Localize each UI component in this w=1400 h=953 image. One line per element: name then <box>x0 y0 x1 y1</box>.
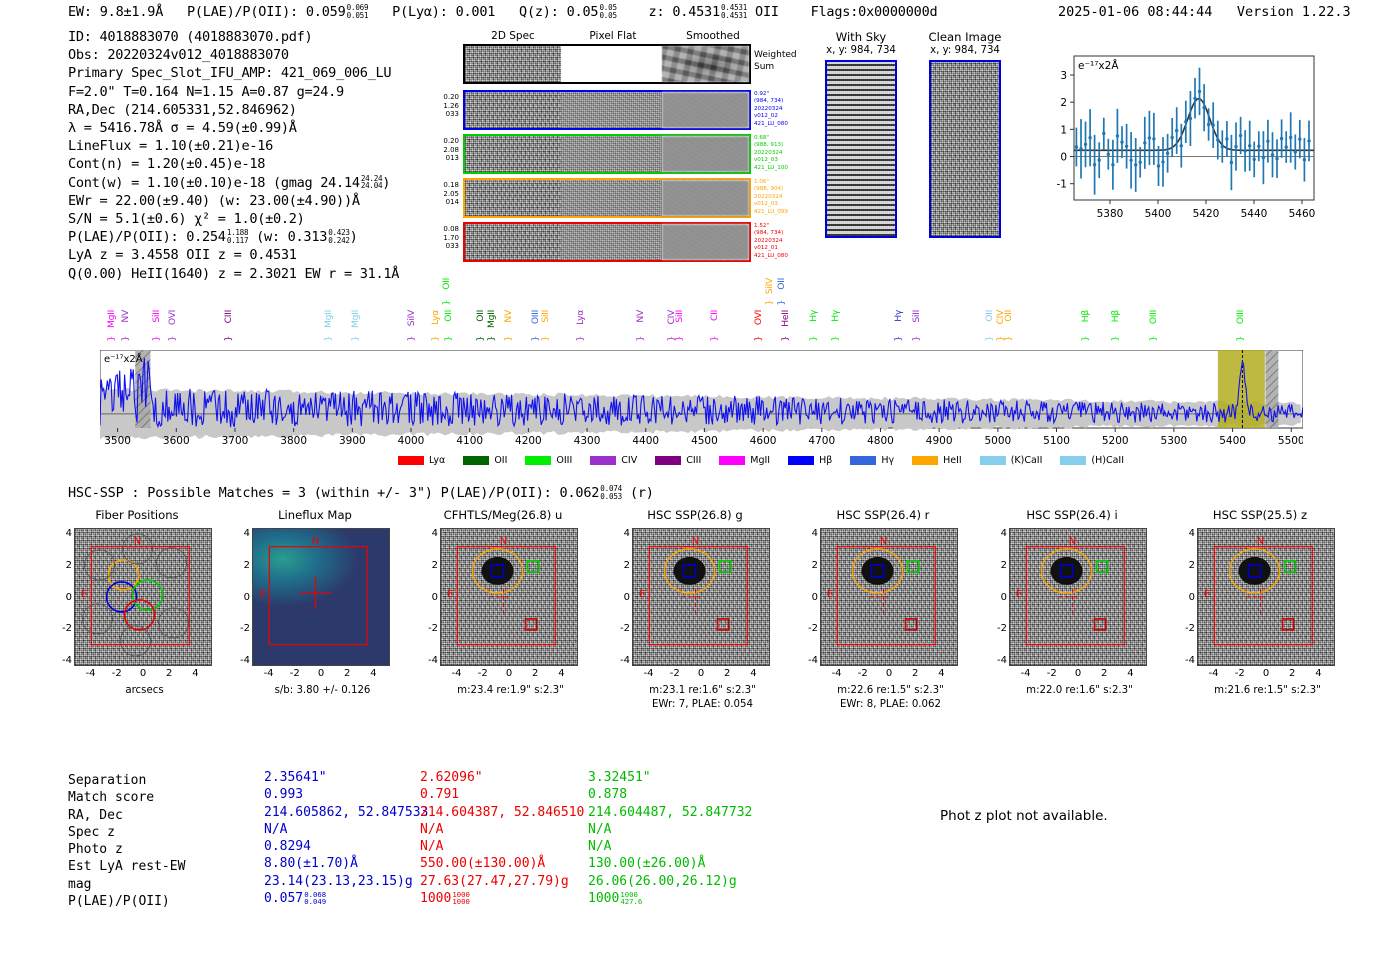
emission-line-brace: } <box>1004 336 1014 341</box>
cutout-ytick: -4 <box>792 655 818 666</box>
fiber-smoothed-image <box>662 180 749 216</box>
cutout-yticks: 420-2-4 <box>1169 528 1195 666</box>
header-summary-line: EW: 9.8±1.9Å P(LAE)/P(OII): 0.0590.0690.… <box>68 4 937 20</box>
cutout-overlay: NE <box>75 529 211 665</box>
fiber-row <box>463 90 751 130</box>
hsc-ssp-plae-value: 0.062 <box>560 485 600 501</box>
fiber-row <box>463 134 751 174</box>
header-z-bounds: 0.45310.4531 <box>721 4 747 19</box>
fiber-meta-line: 421_LU_100 <box>754 165 814 172</box>
info-plae-w-bounds: 0.4230.242 <box>328 229 349 245</box>
emission-line-brace: } <box>431 336 441 341</box>
cutout-xtick: 4 <box>548 668 574 679</box>
fiber-row <box>463 178 751 218</box>
svg-text:-1: -1 <box>1057 179 1067 191</box>
emission-line-brace: } <box>152 336 162 341</box>
cutout-xtick: 0 <box>308 668 334 679</box>
fiber-meta-line: v012_01 <box>754 245 814 252</box>
info-plae-poii: P(LAE)/P(OII): 0.2541.1880.117 (w: 0.313… <box>68 228 399 246</box>
fiber-meta-line: 421_LU_080 <box>754 121 814 128</box>
fiber-2dspec-image <box>465 180 561 216</box>
match-table-cell: 214.604487, 52.847732 <box>588 804 752 821</box>
cutout-sub1: m:23.4 re:1.9" s:2.3" <box>428 684 593 697</box>
legend-label: MgII <box>750 455 770 466</box>
header-z-species: OII <box>755 4 779 20</box>
match-table-cell: N/A <box>420 821 584 838</box>
match-table-cell: 2.62096" <box>420 769 584 786</box>
cutout-image[interactable]: NE <box>632 528 770 666</box>
legend-item: Hγ <box>850 455 894 466</box>
cutout-ytick: 0 <box>1169 592 1195 603</box>
svg-text:4300: 4300 <box>574 435 601 447</box>
svg-text:5000: 5000 <box>984 435 1011 447</box>
match-table-cell: 0.878 <box>588 786 752 803</box>
svg-text:5300: 5300 <box>1161 435 1188 447</box>
legend-label: Lyα <box>429 455 445 466</box>
match-table-cell: 23.14(23.13,23.15)g <box>264 873 428 890</box>
cutout-title: HSC SSP(25.5) z <box>1185 508 1335 522</box>
svg-text:4100: 4100 <box>456 435 483 447</box>
cutout-title: Fiber Positions <box>62 508 212 522</box>
header-qz-label: Q(z): <box>519 4 559 20</box>
cutout-ytick: -4 <box>46 655 72 666</box>
emission-line-label: Hβ <box>1080 310 1091 322</box>
legend-item: Hβ <box>788 455 832 466</box>
svg-text:3500: 3500 <box>104 435 131 447</box>
svg-text:4800: 4800 <box>867 435 894 447</box>
cutout-image[interactable]: NE <box>252 528 390 666</box>
cutout-ytick: 2 <box>604 560 630 571</box>
svg-text:4600: 4600 <box>750 435 777 447</box>
match-table-cell: 26.06(26.00,26.12)g <box>588 873 752 890</box>
cutout-panel: HSC SSP(25.5) z NE -4-2024 m:21.6 re:1.5… <box>1185 508 1350 738</box>
cutout-overlay: NE <box>441 529 577 665</box>
cutout-panel: HSC SSP(26.4) i NE -4-2024 m:22.0 re:1.6… <box>997 508 1162 738</box>
fiber-meta-line: 20220324 <box>754 194 814 201</box>
cutout-image[interactable]: NE <box>440 528 578 666</box>
cutout-xtick: -4 <box>1012 668 1038 679</box>
photz-note: Phot z plot not available. <box>940 808 1108 824</box>
cutout-ytick: -4 <box>412 655 438 666</box>
legend-label: OIII <box>556 455 572 466</box>
cutout-xtick: -2 <box>662 668 688 679</box>
header-plya: P(Lyα): 0.001 <box>392 4 495 20</box>
svg-text:5400: 5400 <box>1145 208 1172 220</box>
match-table-label: Match score <box>68 789 185 806</box>
match-table-cell: N/A <box>264 821 428 838</box>
header-z-value: 0.4531 <box>672 4 720 20</box>
fiber-stat: 0.20 <box>415 137 459 146</box>
cutout-sub1: m:21.6 re:1.5" s:2.3" <box>1185 684 1350 697</box>
fiber-stat: 0.20 <box>415 93 459 102</box>
match-table-plae-cell: 0.0570.0680.049 <box>264 890 428 907</box>
emission-line-brace: } <box>576 336 586 341</box>
info-lambda-sigma: λ = 5416.78Å σ = 4.59(±0.99)Å <box>68 119 399 137</box>
emission-line-brace: } <box>777 300 787 305</box>
emission-line-brace: } <box>675 336 685 341</box>
match-table-column: 2.62096"0.791214.604387, 52.846510N/AN/A… <box>420 769 584 907</box>
emission-line-brace: } <box>1081 336 1091 341</box>
emission-line-label: Hγ <box>808 310 819 322</box>
emission-line-label: SiII <box>674 310 685 323</box>
emission-line-brace: } <box>541 336 551 341</box>
fiber-meta-line: 20220324 <box>754 106 814 113</box>
emission-line-brace: } <box>444 336 454 341</box>
legend-label: (H)CaII <box>1091 455 1124 466</box>
emission-line-brace: } <box>754 336 764 341</box>
fiber-stat: 033 <box>415 110 459 119</box>
legend-item: CIV <box>590 455 637 466</box>
match-table-label: mag <box>68 876 185 893</box>
emission-line-brace: } <box>1111 336 1121 341</box>
cutout-ytick: 4 <box>981 528 1007 539</box>
fiber-stat: 014 <box>415 198 459 207</box>
svg-text:5400: 5400 <box>1219 435 1246 447</box>
legend-swatch <box>788 456 814 465</box>
legend-item: Lyα <box>398 455 445 466</box>
cutout-ytick: 4 <box>1169 528 1195 539</box>
legend-label: Hγ <box>881 455 894 466</box>
fiber-pixelflat-image <box>561 224 662 260</box>
legend-label: CIV <box>621 455 637 466</box>
cutout-overlay: NE <box>1198 529 1334 665</box>
cutout-sub2: EWr: 7, PLAE: 0.054 <box>620 698 785 711</box>
fiber-left-stats: 0.202.08013 <box>415 137 459 163</box>
fiber-meta-line: 0.68" <box>754 135 814 142</box>
cutout-ytick: 0 <box>224 592 250 603</box>
emission-line-brace: } <box>831 336 841 341</box>
cutout-overlay: NE <box>633 529 769 665</box>
svg-text:4500: 4500 <box>691 435 718 447</box>
svg-text:5440: 5440 <box>1241 208 1268 220</box>
emission-line-label: Lyα <box>430 310 441 325</box>
fiber-right-meta: 0.92"(984, 734)20220324v012_02421_LU_080 <box>754 91 814 128</box>
emission-line-label: SiII <box>151 310 162 323</box>
match-table-label: Est LyA rest-EW <box>68 858 185 875</box>
cutout-image[interactable]: NE <box>74 528 212 666</box>
legend-swatch <box>463 456 489 465</box>
cutout-sub1: arcsecs <box>62 684 227 697</box>
fiber-meta-line: 20220324 <box>754 150 814 157</box>
header-ew: EW: 9.8±1.9Å <box>68 4 163 20</box>
fiber-stat: 1.26 <box>415 102 459 111</box>
col-title-smoothed: Smoothed <box>663 30 763 42</box>
cutout-image[interactable]: NE <box>1197 528 1335 666</box>
fiber-row <box>463 222 751 262</box>
cutout-xtick: 0 <box>130 668 156 679</box>
match-table-label: Photo z <box>68 841 185 858</box>
match-table-cell: 2.35641" <box>264 769 428 786</box>
match-table-column: 2.35641"0.993214.605862, 52.847533N/A0.8… <box>264 769 428 907</box>
header-plae-value: 0.059 <box>306 4 346 20</box>
emission-line-brace: } <box>781 336 791 341</box>
cutout-row: Fiber Positions NE -4-2024 arcsecs 420-2… <box>0 508 1400 738</box>
svg-text:5100: 5100 <box>1043 435 1070 447</box>
cutout-title: HSC SSP(26.8) g <box>620 508 770 522</box>
cutout-xtick: 0 <box>688 668 714 679</box>
header-plae-label: P(LAE)/P(OII): <box>187 4 298 20</box>
clean-image-subtitle: x, y: 984, 734 <box>919 44 1011 57</box>
svg-text:3700: 3700 <box>222 435 249 447</box>
info-seeing-params: F=2.0" T=0.164 N=1.15 A=0.87 g=24.9 <box>68 83 399 101</box>
legend-swatch <box>980 456 1006 465</box>
cutout-xtick: -4 <box>1200 668 1226 679</box>
fiber-meta-line: (988, 913) <box>754 142 814 149</box>
emission-line-brace: } <box>324 336 334 341</box>
header-flags: Flags:0x0000000d <box>811 4 938 20</box>
cutout-panel: Lineflux Map NE -4-2024 s/b: 3.80 +/- 0.… <box>240 508 405 738</box>
fiber-stat: 0.08 <box>415 225 459 234</box>
emission-line-brace: } <box>121 336 131 341</box>
svg-text:5200: 5200 <box>1102 435 1129 447</box>
header-z-label: z: <box>649 4 665 20</box>
legend-swatch <box>525 456 551 465</box>
emission-line-label: CIII <box>223 310 234 323</box>
match-table-cell: 214.604387, 52.846510 <box>420 804 584 821</box>
emission-line-brace: } <box>407 336 417 341</box>
cutout-ytick: 0 <box>604 592 630 603</box>
info-cont-w: Cont(w) = 1.10(±0.10)e-18 (gmag 24.1424.… <box>68 174 399 192</box>
emission-line-label: SiII <box>540 310 551 323</box>
svg-text:N: N <box>500 536 507 547</box>
cutout-ytick: 0 <box>792 592 818 603</box>
emission-line-label: CII <box>709 310 720 321</box>
emission-line-brace: } <box>168 336 178 341</box>
hsc-ssp-summary-line: HSC-SSP : Possible Matches = 3 (within +… <box>68 485 654 501</box>
emission-line-label: SiIV <box>406 310 417 326</box>
emission-line-label: OVI <box>753 310 764 325</box>
cutout-panel: Fiber Positions NE -4-2024 arcsecs 420-2… <box>62 508 227 738</box>
match-table-cell: N/A <box>588 821 752 838</box>
weighted-sum-smoothed-image <box>662 46 749 82</box>
fiber-meta-line: 1.06" <box>754 179 814 186</box>
fiber-meta-line: v012_03 <box>754 157 814 164</box>
emission-line-label: NV <box>503 310 514 323</box>
cutout-xtick: -2 <box>1227 668 1253 679</box>
fiber-smoothed-image <box>662 136 749 172</box>
emission-line-label: OII <box>475 310 486 322</box>
info-redshifts: LyA z = 3.4558 OII z = 0.4531 <box>68 246 399 264</box>
cutout-xtick: -2 <box>104 668 130 679</box>
svg-text:4000: 4000 <box>398 435 425 447</box>
legend-item: CIII <box>655 455 701 466</box>
cutout-ytick: -2 <box>224 623 250 634</box>
svg-text:E: E <box>81 589 87 600</box>
cutout-xtick: 2 <box>334 668 360 679</box>
legend-label: OII <box>494 455 507 466</box>
info-lineflux: LineFlux = 1.10(±0.21)e-16 <box>68 137 399 155</box>
info-primary-spec-slot: Primary Spec_Slot_IFU_AMP: 421_069_006_L… <box>68 64 399 82</box>
cutout-xtick: -4 <box>443 668 469 679</box>
cutout-panel: HSC SSP(26.8) g NE -4-2024 m:23.1 re:1.6… <box>620 508 785 738</box>
match-table-label: Separation <box>68 772 185 789</box>
info-cont-n: Cont(n) = 1.20(±0.45)e-18 <box>68 155 399 173</box>
emission-line-label: SiII <box>911 310 922 323</box>
cutout-xtick: 2 <box>156 668 182 679</box>
weighted-sum-pixelflat-image <box>561 46 662 82</box>
emission-line-brace: } <box>504 336 514 341</box>
emission-line-brace: } <box>351 336 361 341</box>
cutout-ytick: 4 <box>792 528 818 539</box>
fiber-smoothed-image <box>662 224 749 260</box>
match-table-cell: 130.00(±26.00)Å <box>588 855 752 872</box>
emission-line-brace: } <box>1236 336 1246 341</box>
emission-line-brace: } <box>224 336 234 341</box>
svg-text:E: E <box>1016 589 1022 600</box>
match-table-cell: 550.00(±130.00)Å <box>420 855 584 872</box>
match-table-cell: 0.993 <box>264 786 428 803</box>
legend-item: HeII <box>912 455 962 466</box>
info-id: ID: 4018883070 (4018883070.pdf) <box>68 28 399 46</box>
header-version: Version 1.22.3 <box>1237 4 1351 20</box>
cutout-image[interactable]: NE <box>1009 528 1147 666</box>
fiber-stat: 1.70 <box>415 234 459 243</box>
fiber-meta-line: 1.52" <box>754 223 814 230</box>
cutout-xtick: 2 <box>902 668 928 679</box>
svg-text:N: N <box>1069 536 1076 547</box>
svg-text:E: E <box>259 589 265 600</box>
info-radec: RA,Dec (214.605331,52.846962) <box>68 101 399 119</box>
fiber-right-meta: 1.06"(988, 904)20220324v012_03421_LU_099 <box>754 179 814 216</box>
svg-text:5420: 5420 <box>1193 208 1220 220</box>
fiber-left-stats: 0.081.70033 <box>415 225 459 251</box>
emission-line-brace: } <box>531 336 541 341</box>
cutout-ytick: 0 <box>46 592 72 603</box>
cutout-xtick: -2 <box>282 668 308 679</box>
match-table-row-labels: SeparationMatch scoreRA, DecSpec zPhoto … <box>68 772 185 910</box>
emission-line-label: OII <box>776 278 787 290</box>
match-table-cell: 8.80(±1.70)Å <box>264 855 428 872</box>
emission-line-brace: } <box>1149 336 1159 341</box>
header-qz-bounds: 0.050.05 <box>599 4 616 19</box>
header-datetime: 2025-01-06 08:44:44 <box>1058 4 1212 20</box>
cutout-ytick: -4 <box>1169 655 1195 666</box>
sky-image-group: With Sky x, y: 984, 734 Clean Image x, y… <box>815 30 1015 255</box>
match-table-label: Spec z <box>68 824 185 841</box>
match-table-cell: N/A <box>588 838 752 855</box>
hsc-ssp-band: (r) <box>630 485 654 501</box>
fiber-stat: 013 <box>415 154 459 163</box>
cutout-ytick: -2 <box>1169 623 1195 634</box>
cutout-ytick: -4 <box>224 655 250 666</box>
cutout-ytick: -4 <box>981 655 1007 666</box>
emission-line-fit-plot: e⁻¹⁷x2Å538054005420544054603210-1 <box>1032 42 1322 247</box>
clean-image-title: Clean Image <box>919 30 1011 44</box>
cutout-sub1: m:22.0 re:1.6" s:2.3" <box>997 684 1162 697</box>
emission-line-brace: } <box>487 336 497 341</box>
svg-text:N: N <box>692 536 699 547</box>
cutout-image[interactable]: NE <box>820 528 958 666</box>
legend-item: (K)CaII <box>980 455 1043 466</box>
fiber-meta-line: 421_LU_099 <box>754 209 814 216</box>
emission-line-label: OIII <box>1148 310 1159 324</box>
svg-text:5460: 5460 <box>1289 208 1316 220</box>
cutout-xtick: 0 <box>496 668 522 679</box>
emission-line-fit-svg: e⁻¹⁷x2Å538054005420544054603210-1 <box>1032 42 1322 247</box>
emission-line-brace: } <box>710 336 720 341</box>
cutout-yticks: 420-2-4 <box>46 528 72 666</box>
match-table-label: P(LAE)/P(OII) <box>68 893 185 910</box>
svg-text:2: 2 <box>1060 97 1067 109</box>
emission-line-label: Hγ <box>830 310 841 322</box>
info-obs: Obs: 20220324v012_4018883070 <box>68 46 399 64</box>
cutout-ytick: -2 <box>46 623 72 634</box>
fiber-pixelflat-image <box>561 136 662 172</box>
cutout-yticks: 420-2-4 <box>224 528 250 666</box>
info-plae-bounds: 1.1880.117 <box>227 229 248 245</box>
cutout-ytick: 0 <box>981 592 1007 603</box>
emission-line-label: MgII <box>106 310 117 328</box>
legend-swatch <box>655 456 681 465</box>
weighted-sum-label: Weighted Sum <box>754 50 797 73</box>
emission-line-brace: } <box>442 300 452 305</box>
cutout-xtick: -2 <box>850 668 876 679</box>
emission-line-brace: } <box>765 300 775 305</box>
svg-text:1: 1 <box>1060 124 1067 136</box>
cutout-yticks: 420-2-4 <box>412 528 438 666</box>
svg-text:4900: 4900 <box>926 435 953 447</box>
cutout-xticks: -4-2024 <box>1009 668 1147 679</box>
legend-label: (K)CaII <box>1011 455 1043 466</box>
svg-text:4200: 4200 <box>515 435 542 447</box>
match-table-column: 3.32451"0.878214.604487, 52.847732N/AN/A… <box>588 769 752 907</box>
cutout-yticks: 420-2-4 <box>604 528 630 666</box>
cutout-ytick: 4 <box>412 528 438 539</box>
cutout-xtick: 4 <box>1117 668 1143 679</box>
svg-text:N: N <box>1257 536 1264 547</box>
cutout-ytick: -4 <box>604 655 630 666</box>
match-table-plae-cell: 10001000427.6 <box>588 890 752 907</box>
cutout-ytick: 2 <box>981 560 1007 571</box>
cutout-xtick: -4 <box>255 668 281 679</box>
clean-image <box>929 60 1001 238</box>
svg-text:N: N <box>134 536 141 547</box>
cutout-overlay: NE <box>1010 529 1146 665</box>
hsc-ssp-text: HSC-SSP : Possible Matches = 3 (within +… <box>68 485 552 501</box>
emission-line-label: NV <box>635 310 646 323</box>
match-table-label: RA, Dec <box>68 807 185 824</box>
fiber-meta-line: 20220324 <box>754 238 814 245</box>
cutout-xticks: -4-2024 <box>440 668 578 679</box>
emission-line-label: NV <box>120 310 131 323</box>
svg-text:N: N <box>312 536 319 547</box>
hsc-ssp-plae-bounds: 0.0740.053 <box>600 485 622 500</box>
fiber-2dspec-image <box>465 136 561 172</box>
cutout-yticks: 420-2-4 <box>792 528 818 666</box>
emission-line-label: SiIV <box>764 278 775 294</box>
cutout-ytick: 2 <box>412 560 438 571</box>
with-sky-title: With Sky <box>815 30 907 44</box>
emission-line-label: Hγ <box>893 310 904 322</box>
fiber-meta-line: 0.92" <box>754 91 814 98</box>
fiber-right-meta: 1.52"(984, 734)20220324v012_01421_LU_080 <box>754 223 814 260</box>
svg-text:3900: 3900 <box>339 435 366 447</box>
cutout-title: CFHTLS/Meg(26.8) u <box>428 508 578 522</box>
legend-swatch <box>1060 456 1086 465</box>
cutout-title: HSC SSP(26.4) i <box>997 508 1147 522</box>
cutout-xtick: 0 <box>876 668 902 679</box>
legend-item: MgII <box>719 455 770 466</box>
cutout-xtick: 2 <box>522 668 548 679</box>
cutout-ytick: 2 <box>1169 560 1195 571</box>
cutout-overlay: NE <box>821 529 957 665</box>
legend-label: CIII <box>686 455 701 466</box>
cutout-ytick: 2 <box>46 560 72 571</box>
fiber-left-stats: 0.182.05014 <box>415 181 459 207</box>
emission-line-label: OVI <box>167 310 178 325</box>
svg-text:0: 0 <box>1060 152 1067 164</box>
legend-swatch <box>850 456 876 465</box>
